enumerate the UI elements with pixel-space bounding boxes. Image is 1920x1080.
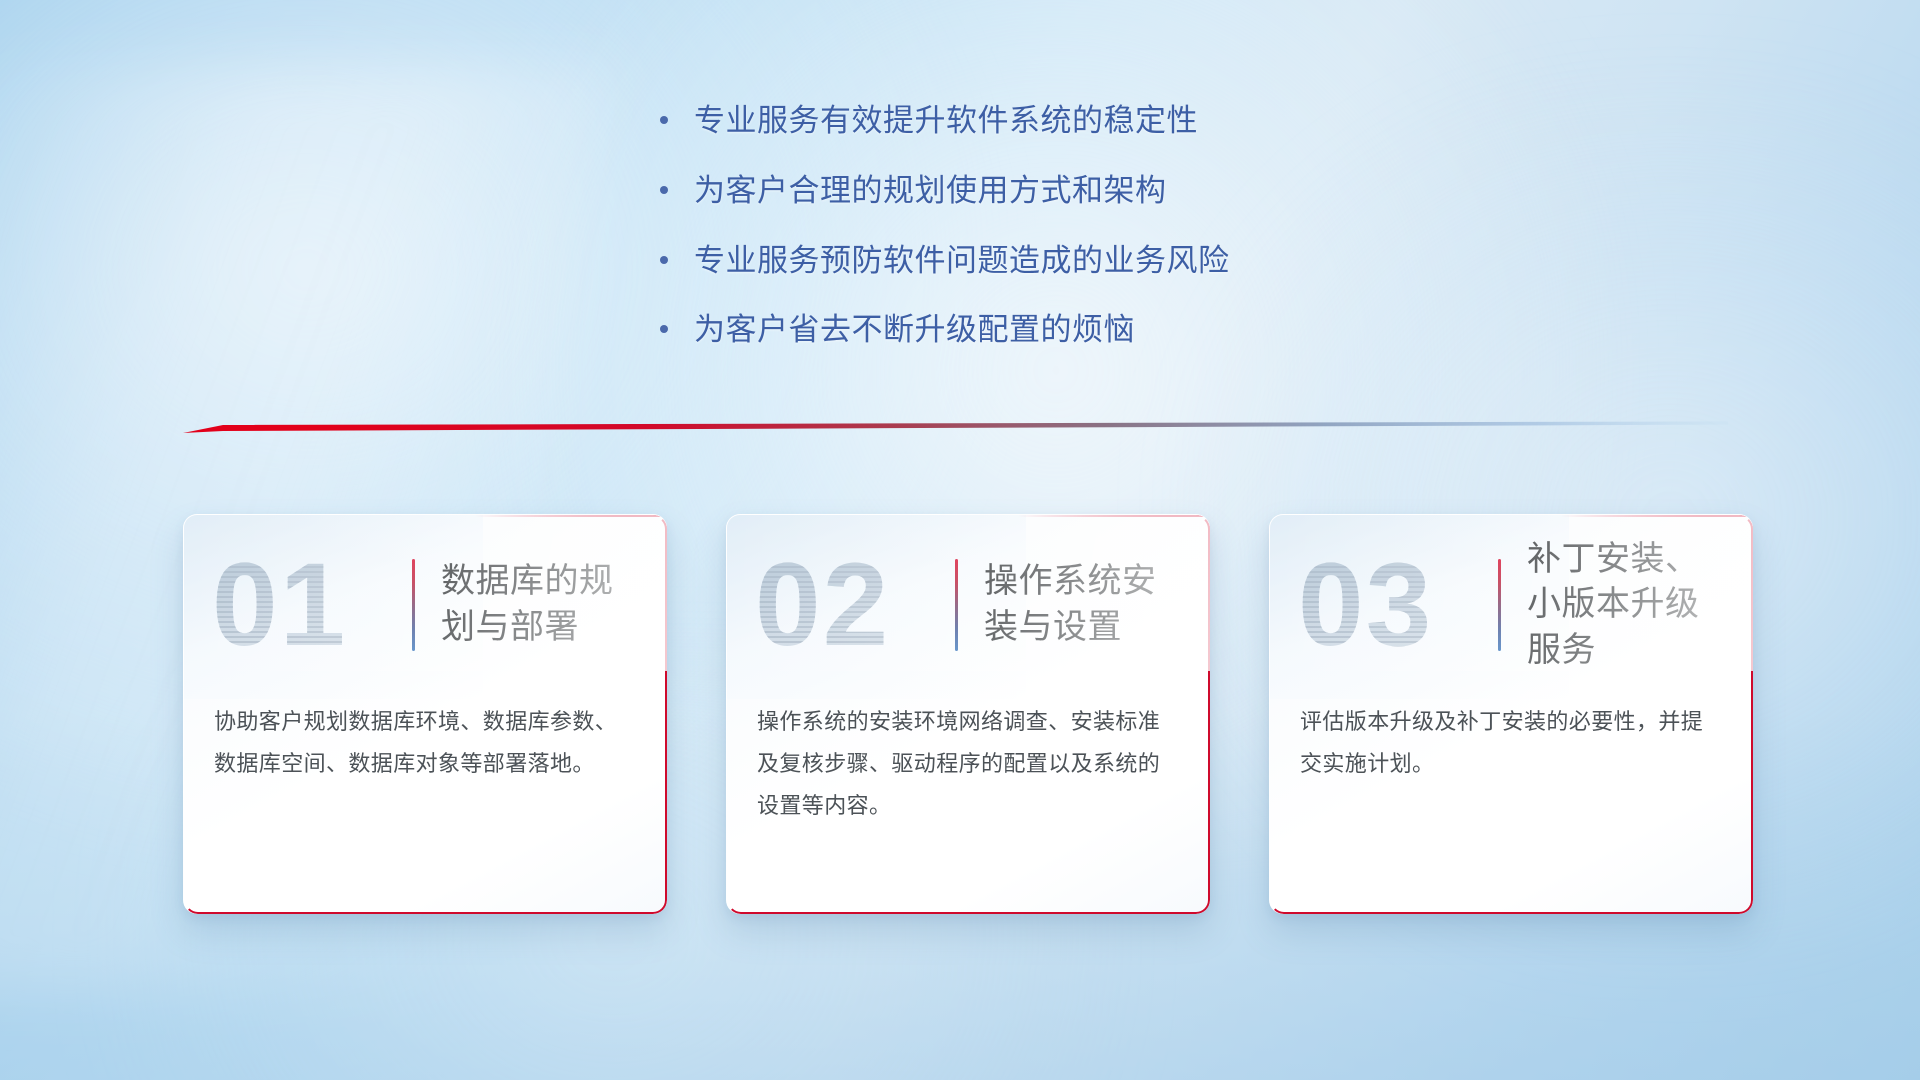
list-item: 专业服务有效提升软件系统的稳定性	[660, 100, 1560, 143]
bullet-dot-icon	[660, 325, 668, 333]
card-title-divider	[412, 559, 415, 651]
card-header: 01 数据库的规划与部署	[184, 515, 667, 671]
section-divider	[183, 418, 1728, 440]
card-index-number: 01	[212, 546, 408, 664]
card-header: 03 补丁安装、小版本升级服务	[1270, 515, 1753, 671]
card-title: 操作系统安装与设置	[984, 559, 1180, 650]
service-card-row: 01 数据库的规划与部署 协助客户规划数据库环境、数据库参数、数据库空间、数据库…	[183, 514, 1753, 914]
card-title: 补丁安装、小版本升级服务	[1527, 537, 1723, 674]
card-title-divider	[1498, 559, 1501, 651]
bullet-label: 专业服务有效提升软件系统的稳定性	[694, 100, 1198, 143]
service-card-03[interactable]: 03 补丁安装、小版本升级服务 评估版本升级及补丁安装的必要性，并提交实施计划。	[1269, 514, 1753, 914]
bullet-dot-icon	[660, 116, 668, 124]
list-item: 为客户合理的规划使用方式和架构	[660, 170, 1560, 213]
bullet-dot-icon	[660, 256, 668, 264]
bullet-dot-icon	[660, 186, 668, 194]
tapered-rule-shape	[183, 418, 1728, 440]
bullet-label: 专业服务预防软件问题造成的业务风险	[694, 240, 1230, 283]
card-title: 数据库的规划与部署	[441, 559, 637, 650]
card-description: 评估版本升级及补丁安装的必要性，并提交实施计划。	[1270, 671, 1753, 785]
bullet-label: 为客户合理的规划使用方式和架构	[694, 170, 1167, 213]
card-index-number: 02	[755, 546, 951, 664]
card-index-number: 03	[1298, 546, 1494, 664]
list-item: 专业服务预防软件问题造成的业务风险	[660, 240, 1560, 283]
card-title-divider	[955, 559, 958, 651]
card-description: 操作系统的安装环境网络调查、安装标准及复核步骤、驱动程序的配置以及系统的设置等内…	[727, 671, 1210, 828]
card-header: 02 操作系统安装与设置	[727, 515, 1210, 671]
service-card-01[interactable]: 01 数据库的规划与部署 协助客户规划数据库环境、数据库参数、数据库空间、数据库…	[183, 514, 667, 914]
service-card-02[interactable]: 02 操作系统安装与设置 操作系统的安装环境网络调查、安装标准及复核步骤、驱动程…	[726, 514, 1210, 914]
bullet-label: 为客户省去不断升级配置的烦恼	[694, 309, 1135, 352]
benefits-bullet-list: 专业服务有效提升软件系统的稳定性 为客户合理的规划使用方式和架构 专业服务预防软…	[660, 100, 1560, 379]
list-item: 为客户省去不断升级配置的烦恼	[660, 309, 1560, 352]
card-description: 协助客户规划数据库环境、数据库参数、数据库空间、数据库对象等部署落地。	[184, 671, 667, 785]
